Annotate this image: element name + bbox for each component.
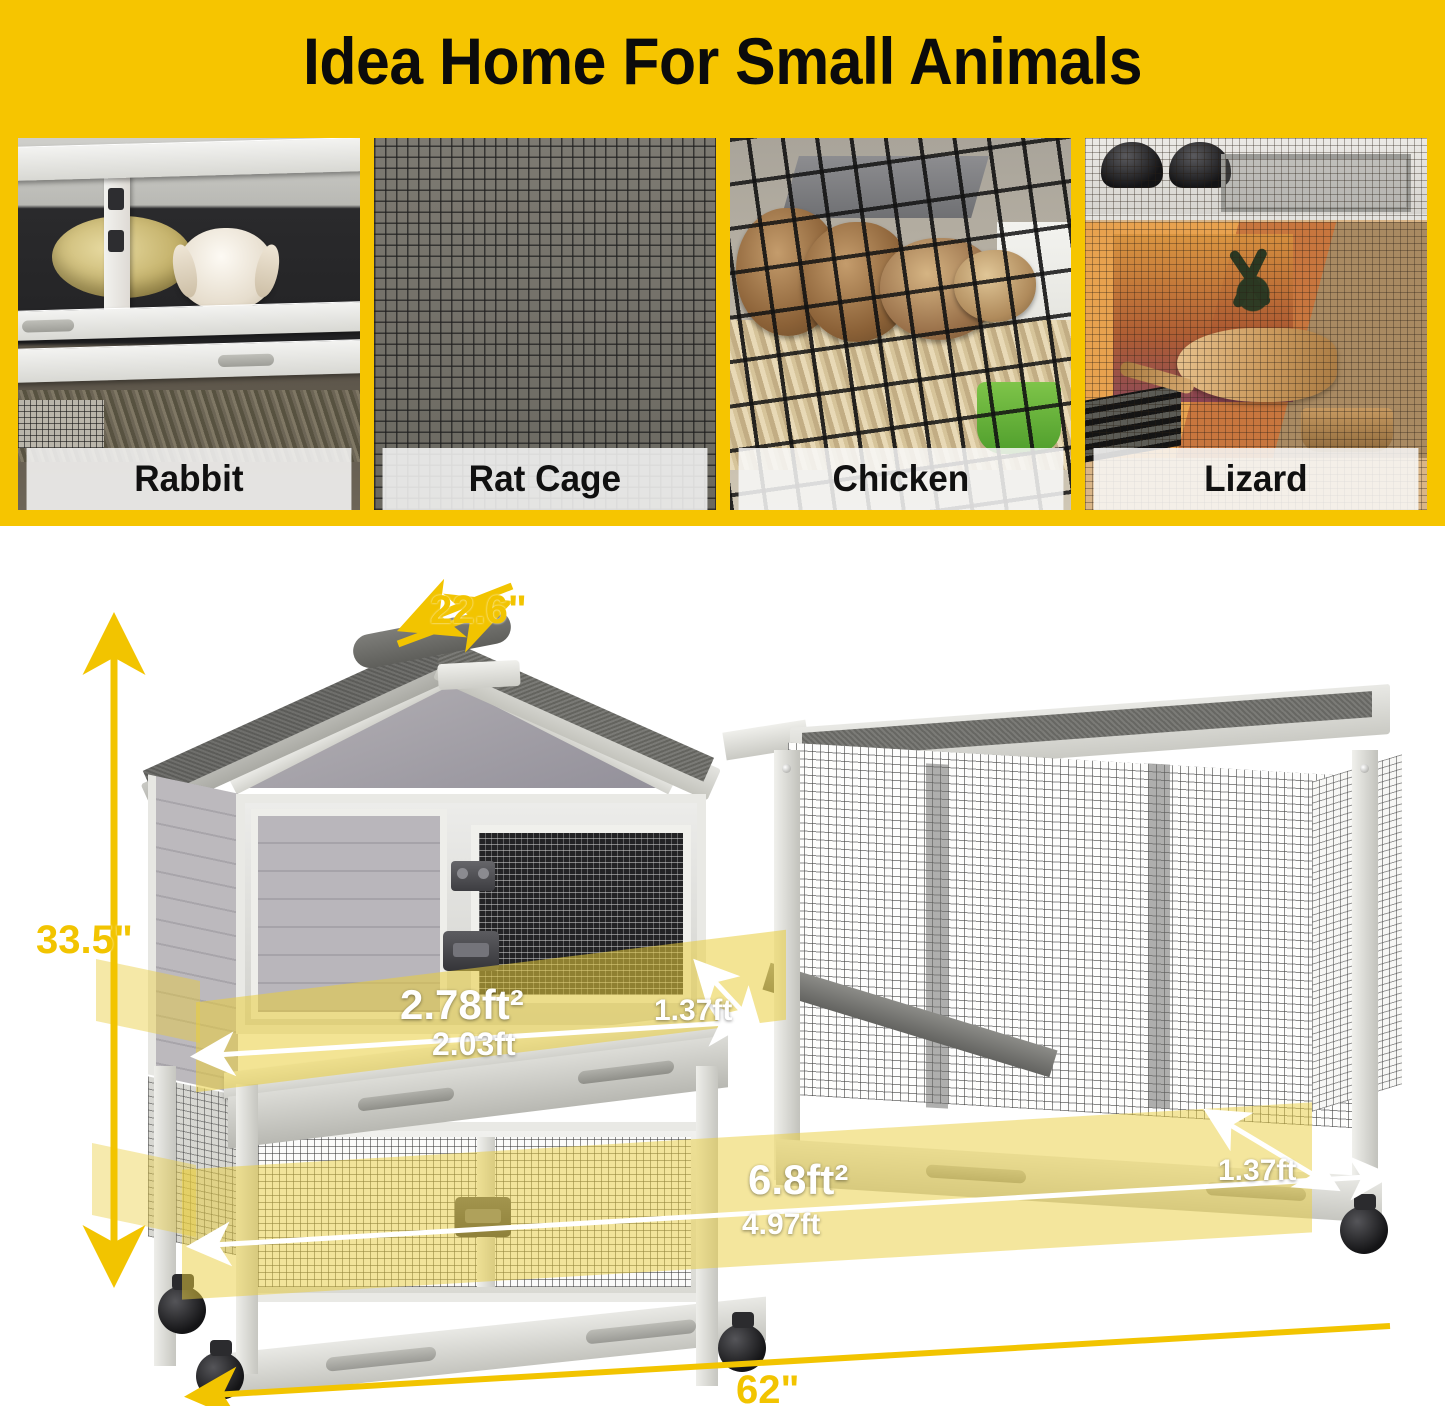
dimension-label-width: 62" — [736, 1368, 799, 1406]
photo-label-rat-cage: Rat Cage — [382, 448, 707, 510]
tray-handle[interactable] — [326, 1346, 436, 1372]
infographic-page: Idea Home For Small Animals — [0, 0, 1445, 1406]
screw-icon — [1360, 764, 1369, 773]
run-divider-post — [1148, 763, 1170, 1108]
dimension-label-upper-area: 2.78ft² — [400, 981, 524, 1029]
hutch-shelf-low — [18, 339, 360, 383]
run-post-right — [1352, 750, 1378, 1220]
photo-card-rabbit: Rabbit — [18, 138, 360, 510]
hutch-shelf-mid — [18, 301, 360, 341]
hinge-icon — [451, 861, 495, 891]
page-title: Idea Home For Small Animals — [58, 28, 1387, 94]
photo-card-rat-cage: Rat Cage — [374, 138, 716, 510]
dimension-label-lower-depth: 1.37ft — [1218, 1154, 1296, 1188]
photo-card-chicken: Chicken — [730, 138, 1072, 510]
screw-icon — [782, 764, 791, 773]
caster-wheel — [1340, 1206, 1388, 1254]
run-divider-post — [926, 763, 948, 1108]
animal-photo-grid: Rabbit Rat Cage — [18, 138, 1427, 510]
tray-handle — [218, 354, 274, 368]
hutch-shelf-top — [18, 138, 360, 181]
base-rail — [206, 1297, 766, 1400]
yellow-banner: Idea Home For Small Animals — [0, 0, 1445, 526]
product-dimension-diagram: 22.6" 33.5" 62" 2.78ft² 2.03ft 1.37ft 6.… — [0, 526, 1445, 1406]
roof-ridge-cap — [437, 660, 520, 690]
tray-handle — [22, 319, 74, 332]
photo-label-rabbit: Rabbit — [27, 448, 352, 510]
tray-handle[interactable] — [578, 1060, 674, 1085]
photo-label-chicken: Chicken — [738, 448, 1063, 510]
dimension-label-upper-depth: 1.37ft — [654, 994, 732, 1028]
dimension-label-depth: 22.6" — [430, 588, 527, 633]
photo-card-lizard: Lizard — [1085, 138, 1427, 510]
rabbit-animal — [178, 228, 274, 310]
run-back-mesh — [788, 743, 1374, 1130]
tray-handle[interactable] — [358, 1087, 454, 1112]
photo-label-lizard: Lizard — [1094, 448, 1419, 510]
tray-handle[interactable] — [586, 1319, 696, 1345]
dimension-label-height: 33.5" — [36, 918, 133, 963]
caster-wheel — [196, 1352, 244, 1400]
dimension-label-upper-length: 2.03ft — [432, 1026, 516, 1063]
dimension-label-lower-area: 6.8ft² — [748, 1156, 848, 1204]
dimension-label-lower-length: 4.97ft — [742, 1208, 820, 1242]
lower-mesh-panel — [18, 400, 104, 448]
caster-wheel — [718, 1324, 766, 1372]
